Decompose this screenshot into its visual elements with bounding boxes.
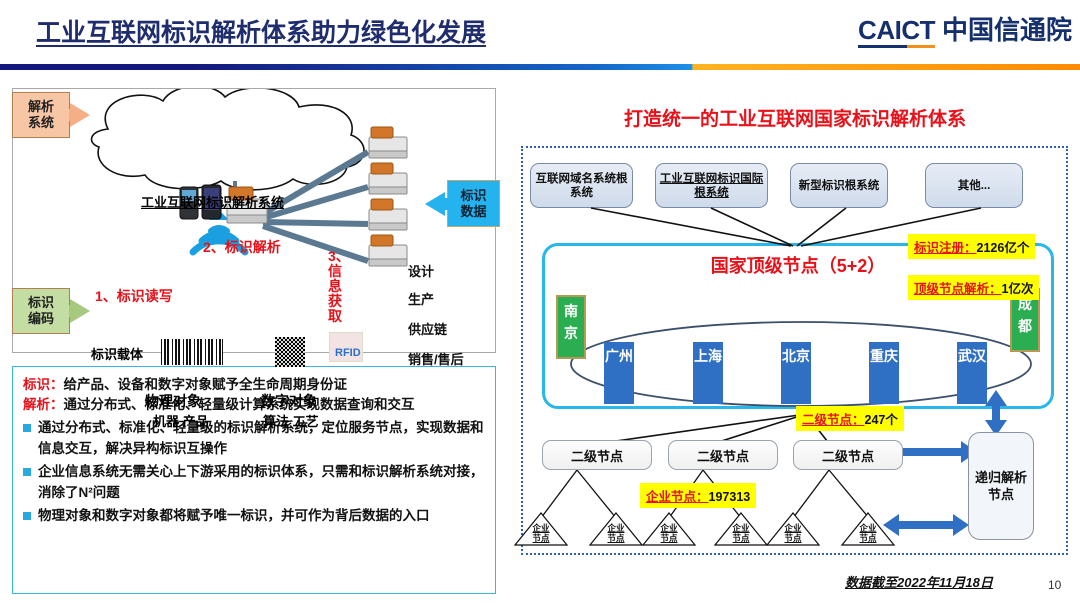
tag-top-node-resolution: 顶级节点解析：1亿次 [908,275,1039,300]
physical-object-label: 物理对象 [145,391,201,411]
arrow-encoding-icon [70,299,90,323]
bullet-square-icon [23,512,31,520]
tag-level2-value: 247个 [865,413,898,427]
recursive-resolution-node[interactable]: 递归解析节点 [968,432,1034,540]
cloud-label: 工业互联网标识解析系统 [141,192,284,211]
tag-identifier-registration: 标识注册：2126亿个 [908,234,1035,259]
logo-caict-text: CAICT [858,16,935,48]
city-node-chongqing[interactable]: 重庆 [869,342,899,404]
barcode-icon [161,339,223,365]
enterprise-node-triangle[interactable]: 企业 节点 [642,512,696,546]
enterprise-node-label: 企业 节点 [841,523,895,543]
carrier-label: 标识载体 [91,344,143,363]
digital-object-sublabel: 算法 工艺 [263,411,319,430]
arrow-data-icon [425,192,445,216]
enterprise-node-triangle[interactable]: 企业 节点 [714,512,768,546]
bullet-square-icon [23,468,31,476]
resolution-value: 通过分布式、标准化、轻量级计算系统实现数据查询和交互 [64,397,415,412]
tag-enterprise-value: 197313 [709,490,751,504]
enterprise-node-label: 企业 节点 [514,523,568,543]
physical-object-sublabel: 机器 产品 [153,411,209,430]
identifier-value: 给产品、设备和数字对象赋予全生命周期身份证 [64,377,348,392]
qr-code-icon [275,337,305,367]
tag-resolution-value: 1亿次 [1002,282,1034,296]
server-label-sales: 销售/售后 [408,349,464,368]
city-node-wuhan[interactable]: 武汉 [957,342,987,404]
tag-resolution-key: 顶级节点解析： [914,282,1002,296]
enterprise-node-label: 企业 节点 [714,523,768,543]
enterprise-node-label: 企业 节点 [589,523,643,543]
recursive-node-label: 递归解析节点 [969,469,1033,503]
rfid-label: RFID [335,347,361,359]
slide-header: 工业互联网标识解析体系助力绿色化发展 CAICT 中国信通院 [0,0,1080,70]
bullet-item: 物理对象和数字对象都将赋予唯一标识，并可作为背后数据的入口 [23,505,485,526]
arrow-resolution-icon [70,103,90,127]
city-node-beijing[interactable]: 北京 [781,342,811,404]
definition-line-identifier: 标识：给产品、设备和数字对象赋予全生命周期身份证 [23,375,485,395]
server-label-production: 生产 [408,289,434,308]
page-number: 10 [1048,578,1061,592]
city-node-nanjing[interactable]: 南京 [556,295,586,359]
digital-object-label: 数字对象 [261,391,317,411]
tag-enterprise-key: 企业节点： [646,490,709,504]
enterprise-node-label: 企业 节点 [766,523,820,543]
caict-logo: CAICT 中国信通院 [858,16,1072,48]
level2-node-3[interactable]: 二级节点 [793,440,903,470]
enterprise-node-label: 企业 节点 [642,523,696,543]
footer-data-note: 数据截至2022年11月18日 [845,572,993,591]
enterprise-node-triangle[interactable]: 企业 节点 [589,512,643,546]
bullet-text: 企业信息系统无需关心上下游采用的标识体系，只需和标识解析系统对接，消除了N²问题 [38,461,485,503]
header-divider-bar [0,64,1080,70]
step-1-label: 1、标识读写 [95,286,173,306]
page-title: 工业互联网标识解析体系助力绿色化发展 [36,13,486,49]
enterprise-node-triangle[interactable]: 企业 节点 [514,512,568,546]
enterprise-node-triangle[interactable]: 企业 节点 [841,512,895,546]
city-node-guangzhou[interactable]: 广州 [604,342,634,404]
definition-text-panel: 标识：给产品、设备和数字对象赋予全生命周期身份证 解析：通过分布式、标准化、轻量… [12,366,496,594]
logo-chinese-text: 中国信通院 [942,16,1072,48]
tag-enterprise-node-count: 企业节点：197313 [640,483,756,508]
bullet-text: 物理对象和数字对象都将赋予唯一标识，并可作为背后数据的入口 [38,505,430,526]
bullet-square-icon [23,424,31,432]
right-panel-title: 打造统一的工业互联网国家标识解析体系 [560,104,1030,131]
resolution-key: 解析： [23,397,64,412]
bullet-item: 通过分布式、标准化、轻量级的标识解析系统，定位服务节点，实现数据和信息交互，解决… [23,417,485,459]
definition-line-resolution: 解析：通过分布式、标准化、轻量级计算系统实现数据查询和交互 [23,395,485,415]
tag-registration-key: 标识注册： [914,241,977,255]
tag-level2-key: 二级节点： [802,413,865,427]
callout-resolution-system: 解析 系统 [12,92,70,138]
tag-level2-node-count: 二级节点：247个 [796,406,904,431]
bullet-text: 通过分布式、标准化、轻量级的标识解析系统，定位服务节点，实现数据和信息交互，解决… [38,417,485,459]
server-label-supply-chain: 供应链 [408,319,447,338]
city-node-shanghai[interactable]: 上海 [693,342,723,404]
tag-registration-value: 2126亿个 [977,241,1030,255]
level2-node-2[interactable]: 二级节点 [668,440,778,470]
callout-identifier-encoding: 标识 编码 [12,288,70,334]
step-2-label: 2、标识解析 [203,237,281,257]
callout-identifier-data: 标识 数据 [447,180,500,227]
step-3-label: 3、信息获取 [328,249,344,324]
identifier-key: 标识： [23,377,64,392]
enterprise-node-triangle[interactable]: 企业 节点 [766,512,820,546]
bullet-item: 企业信息系统无需关心上下游采用的标识体系，只需和标识解析系统对接，消除了N²问题 [23,461,485,503]
server-label-design: 设计 [408,261,434,280]
level2-node-1[interactable]: 二级节点 [542,440,652,470]
